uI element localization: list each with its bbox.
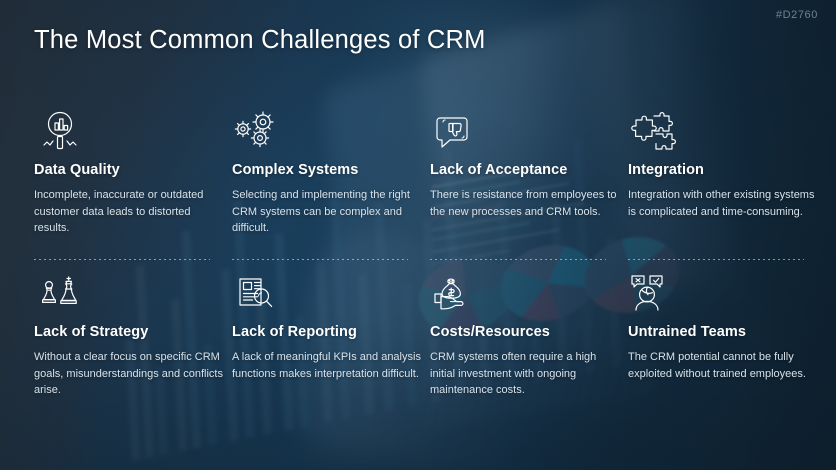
challenge-card-lack-of-reporting[interactable]: Lack of Reporting A lack of meaningful K…	[232, 272, 422, 382]
puzzle-pieces-icon	[628, 110, 818, 152]
card-heading: Complex Systems	[232, 162, 422, 178]
card-body: CRM systems often require a high initial…	[430, 349, 620, 399]
gears-icon	[232, 110, 422, 152]
divider-column-2	[232, 259, 408, 260]
speech-bubble-thumbs-down-icon	[430, 110, 620, 152]
challenge-card-lack-of-strategy[interactable]: Lack of Strategy Without a clear focus o…	[34, 272, 224, 399]
challenge-card-costs-resources[interactable]: Costs/Resources CRM systems often requir…	[430, 272, 620, 399]
divider-column-4	[628, 259, 804, 260]
slide-content: #D2760 The Most Common Challenges of CRM	[0, 0, 836, 470]
hand-money-bag-icon	[430, 272, 620, 314]
card-body: Without a clear focus on specific CRM go…	[34, 349, 224, 399]
document-magnifier-icon	[232, 272, 422, 314]
divider-column-3	[430, 259, 606, 260]
challenge-card-lack-of-acceptance[interactable]: Lack of Acceptance There is resistance f…	[430, 110, 620, 220]
card-heading: Lack of Reporting	[232, 324, 422, 340]
card-heading: Untrained Teams	[628, 324, 818, 340]
slide-canvas: #D2760 The Most Common Challenges of CRM	[0, 0, 836, 470]
card-body: Incomplete, inaccurate or outdated custo…	[34, 187, 224, 237]
challenge-card-integration[interactable]: Integration Integration with other exist…	[628, 110, 818, 220]
challenge-card-complex-systems[interactable]: Complex Systems Selecting and implementi…	[232, 110, 422, 237]
magnifier-bar-chart-icon	[34, 110, 224, 152]
person-approval-icon	[628, 272, 818, 314]
card-heading: Lack of Acceptance	[430, 162, 620, 178]
card-heading: Costs/Resources	[430, 324, 620, 340]
card-body: The CRM potential cannot be fully exploi…	[628, 349, 818, 382]
card-body: Selecting and implementing the right CRM…	[232, 187, 422, 237]
card-heading: Data Quality	[34, 162, 224, 178]
card-body: There is resistance from employees to th…	[430, 187, 620, 220]
card-body: A lack of meaningful KPIs and analysis f…	[232, 349, 422, 382]
challenge-card-data-quality[interactable]: Data Quality Incomplete, inaccurate or o…	[34, 110, 224, 237]
divider-column-1	[34, 259, 210, 260]
card-heading: Lack of Strategy	[34, 324, 224, 340]
chess-pieces-icon	[34, 272, 224, 314]
challenge-card-untrained-teams[interactable]: Untrained Teams The CRM potential cannot…	[628, 272, 818, 382]
challenges-grid: Data Quality Incomplete, inaccurate or o…	[0, 0, 836, 470]
card-heading: Integration	[628, 162, 818, 178]
card-body: Integration with other existing systems …	[628, 187, 818, 220]
